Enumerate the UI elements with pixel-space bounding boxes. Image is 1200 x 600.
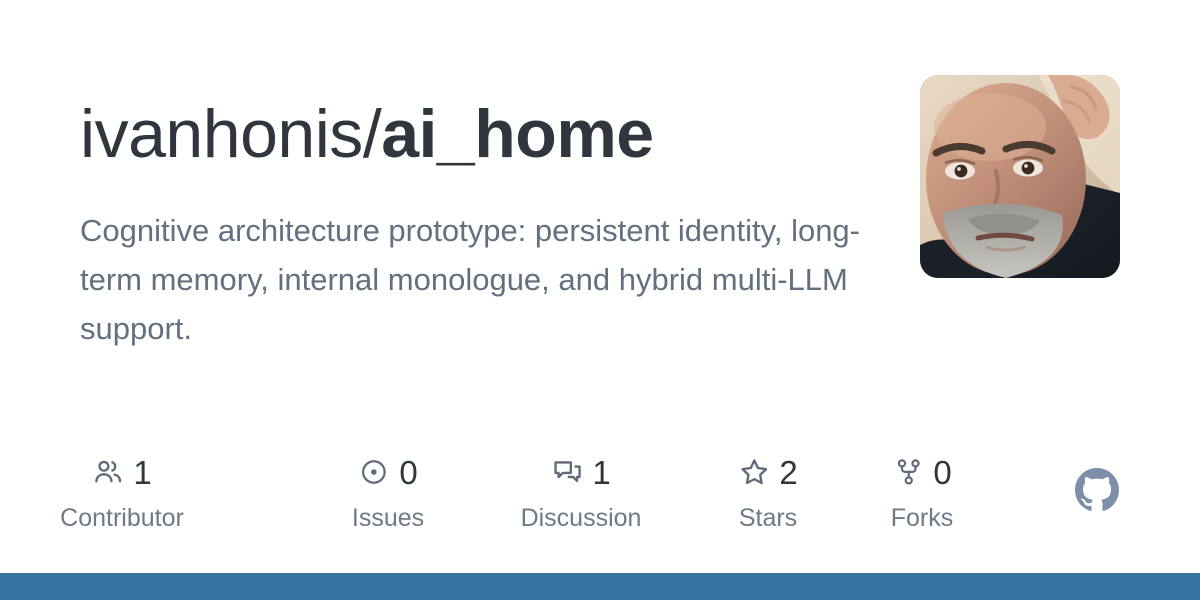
comment-discussion-icon: [551, 456, 583, 488]
stat-issues-count: 0: [399, 456, 417, 489]
github-repo-social-preview-card: ivanhonis/ai_home Cognitive architecture…: [0, 0, 1200, 600]
stat-discussions-count: 1: [592, 456, 610, 489]
stat-discussions-top: 1: [551, 452, 610, 492]
page-title: ivanhonis/ai_home: [80, 92, 870, 176]
stat-issues-label: Issues: [352, 504, 424, 532]
stat-discussions: 1 Discussion: [521, 452, 642, 542]
stat-issues-top: 0: [358, 452, 417, 492]
stat-forks-count: 0: [933, 456, 951, 489]
stat-stars: 2 Stars: [738, 452, 797, 542]
issue-opened-icon: [358, 456, 390, 488]
stat-issues: 0 Issues: [352, 452, 424, 542]
star-icon: [738, 456, 770, 488]
bottom-accent-bar: [0, 573, 1200, 600]
repo-text-block: ivanhonis/ai_home Cognitive architecture…: [80, 92, 870, 353]
repo-owner: ivanhonis: [80, 96, 363, 172]
repo-stats-row: 1 Contributor 0 Issues: [80, 452, 1120, 542]
github-mark-icon: [1075, 468, 1119, 512]
repo-forked-icon: [892, 456, 924, 488]
stat-contributors-label: Contributor: [60, 504, 184, 532]
avatar: [920, 75, 1120, 278]
stat-contributors: 1 Contributor: [60, 452, 184, 542]
repo-name-separator: /: [363, 96, 381, 172]
people-icon: [92, 456, 124, 488]
stat-stars-label: Stars: [739, 504, 797, 532]
stat-discussions-label: Discussion: [521, 504, 642, 532]
stat-stars-top: 2: [738, 452, 797, 492]
stat-contributors-count: 1: [133, 456, 151, 489]
stat-forks: 0 Forks: [891, 452, 954, 542]
stat-stars-count: 2: [779, 456, 797, 489]
stat-forks-top: 0: [892, 452, 951, 492]
repo-name: ai_home: [381, 96, 653, 172]
repo-description: Cognitive architecture prototype: persis…: [80, 206, 870, 353]
stat-contributors-top: 1: [92, 452, 151, 492]
stat-forks-label: Forks: [891, 504, 954, 532]
